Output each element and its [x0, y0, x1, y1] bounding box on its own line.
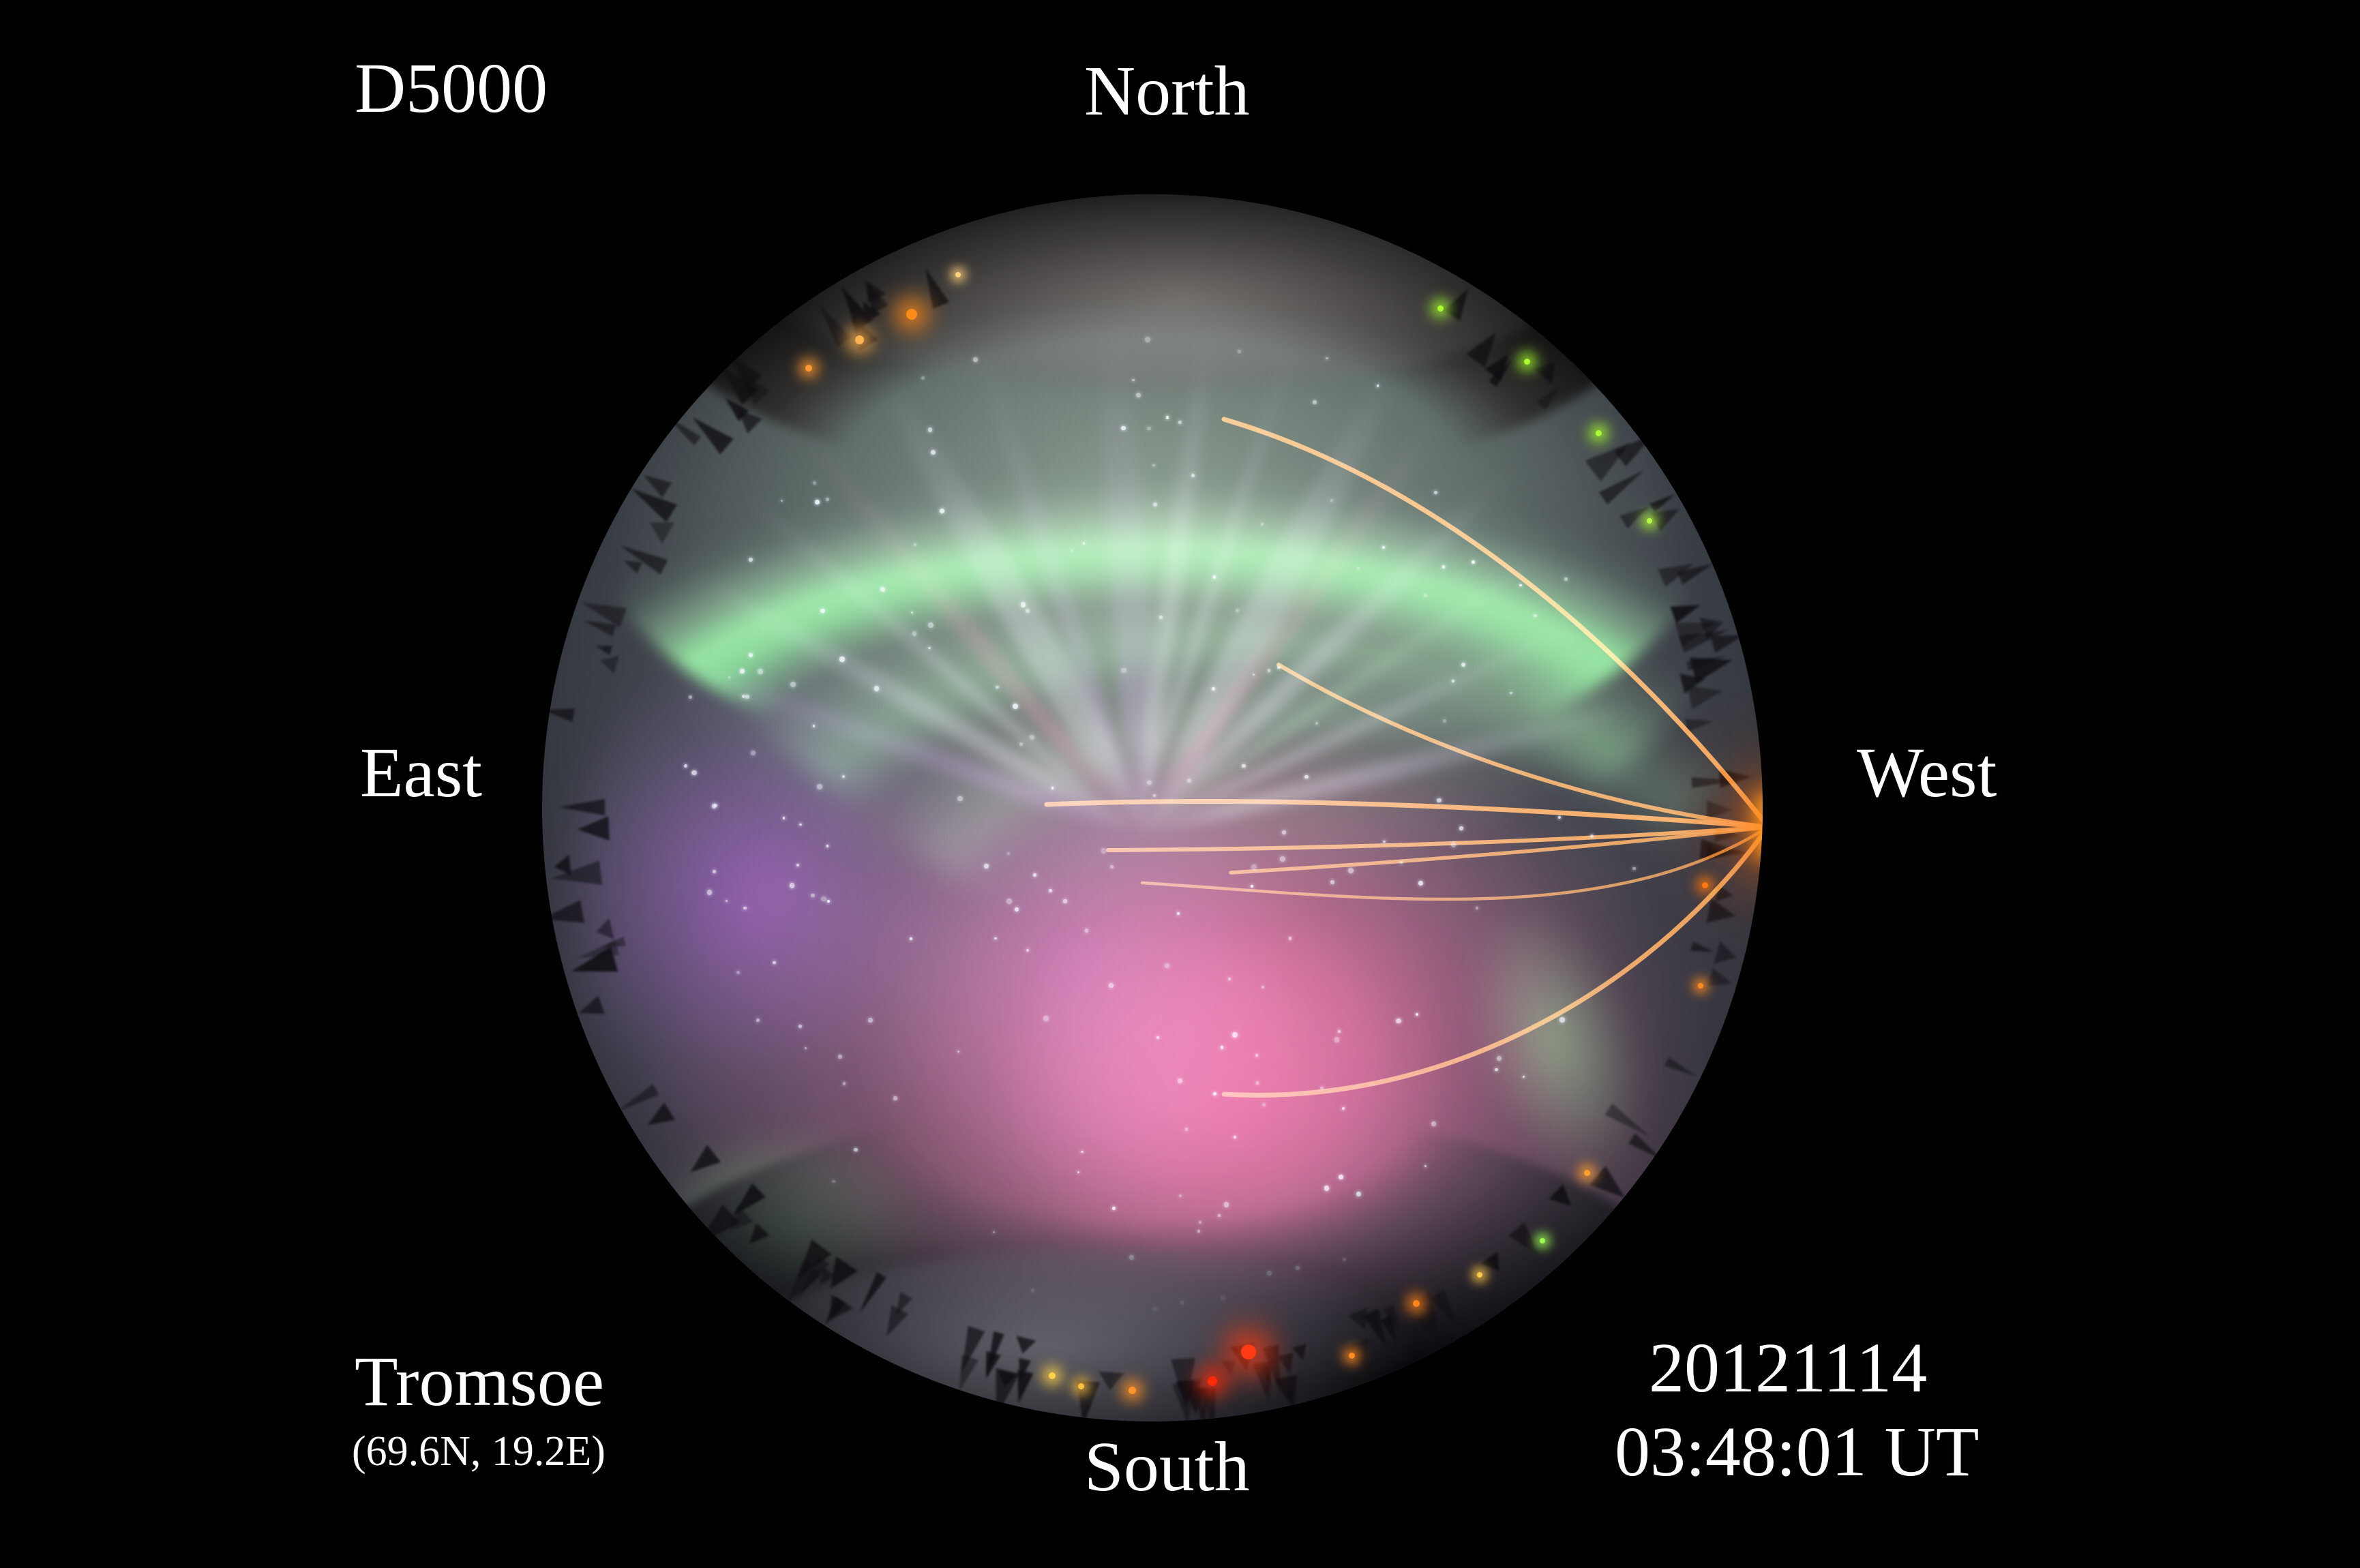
direction-label-west: West	[1857, 738, 1997, 809]
ground-light	[1349, 1353, 1355, 1359]
station-name-label: Tromsoe	[355, 1346, 604, 1417]
ground-light	[855, 335, 864, 344]
ground-light	[1049, 1372, 1056, 1379]
ground-light	[1437, 305, 1444, 312]
ground-light	[955, 272, 961, 277]
ground-light	[906, 309, 917, 320]
direction-label-south: South	[1084, 1432, 1250, 1503]
ground-light	[1540, 1238, 1545, 1243]
ground-light	[1129, 1387, 1136, 1394]
ground-light	[1702, 882, 1708, 888]
observation-date-label: 20121114	[1649, 1333, 1927, 1404]
all-sky-fisheye-image	[542, 194, 1763, 1421]
ground-light	[1584, 1170, 1590, 1176]
ground-light	[1413, 1300, 1420, 1307]
direction-label-east: East	[360, 738, 482, 809]
station-coordinates-label: (69.6N, 19.2E)	[352, 1430, 606, 1473]
ground-light	[1241, 1344, 1256, 1359]
ground-light	[805, 365, 812, 372]
ground-light	[1596, 430, 1602, 436]
ground-light	[1477, 1272, 1482, 1278]
ground-light	[1208, 1376, 1217, 1386]
direction-label-north: North	[1084, 56, 1250, 127]
observation-time-label: 03:48:01 UT	[1615, 1417, 1979, 1488]
ground-light	[1698, 983, 1703, 989]
ground-lights	[542, 194, 1763, 1421]
ground-light	[1647, 518, 1652, 524]
ground-light	[1078, 1383, 1084, 1389]
camera-model-label: D5000	[355, 53, 548, 124]
ground-light	[1524, 359, 1530, 365]
